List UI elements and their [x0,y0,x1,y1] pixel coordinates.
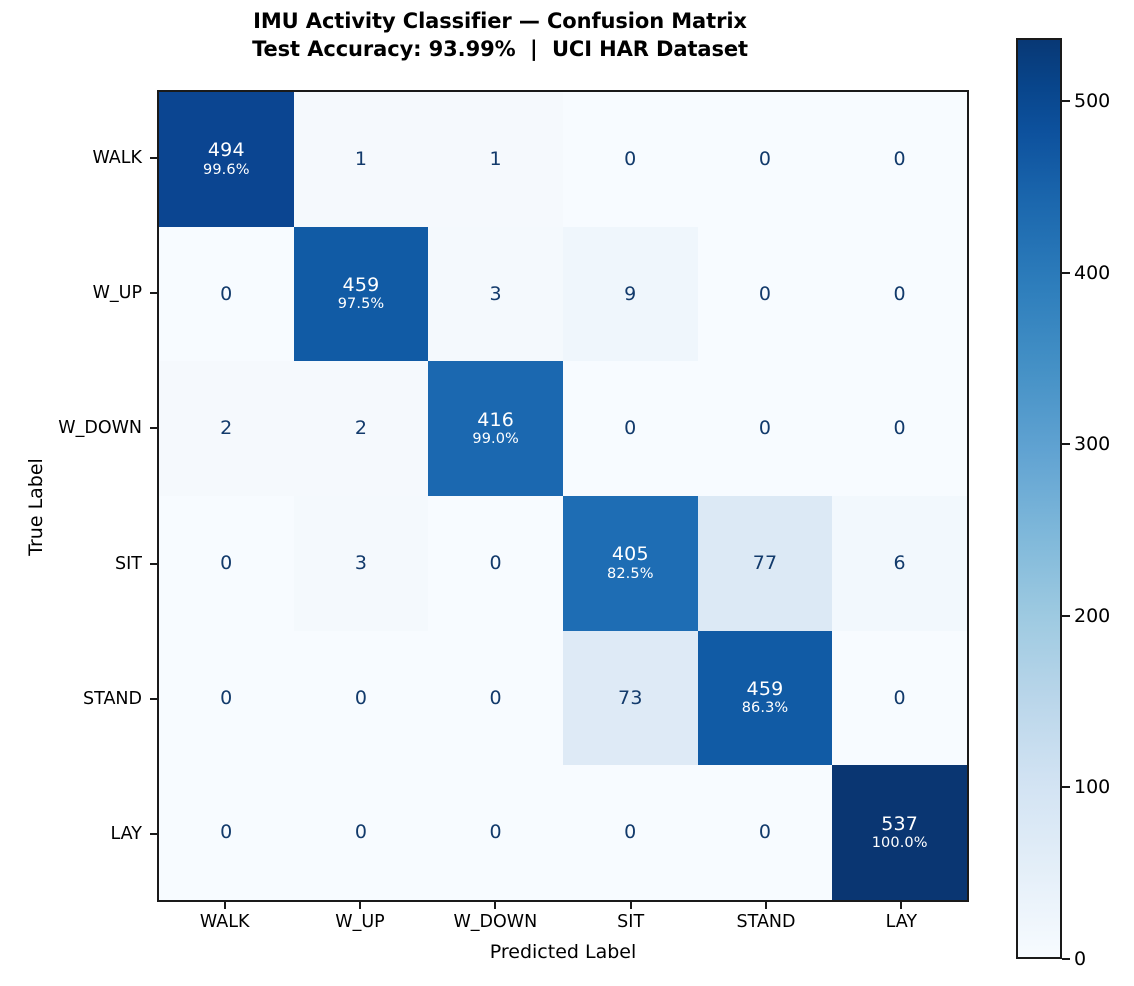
cell-count: 0 [220,822,232,843]
matrix-cell: 0 [563,765,698,900]
cell-count: 1 [355,149,367,170]
cell-count: 0 [220,553,232,574]
colorbar-tick-label: 100 [1074,776,1110,798]
colorbar-tick-mark [1062,615,1070,617]
cell-count: 459 [343,275,380,296]
matrix-cell: 0 [428,496,563,631]
matrix-cell: 3 [428,227,563,362]
cell-count: 3 [490,284,502,305]
y-tick-label: STAND [0,689,142,709]
matrix-cell: 73 [563,631,698,766]
colorbar [1016,38,1062,959]
matrix-cell: 2 [159,361,294,496]
y-tick-mark [150,563,157,565]
matrix-cell: 0 [294,631,429,766]
x-tick-mark [630,902,632,909]
x-tick-mark [900,902,902,909]
matrix-cell: 0 [159,227,294,362]
matrix-cell: 0 [832,361,967,496]
matrix-cell: 1 [428,92,563,227]
matrix-cell: 0 [832,92,967,227]
matrix-cell: 0 [698,765,833,900]
cell-count: 459 [747,679,784,700]
matrix-cell: 0 [698,92,833,227]
cell-count: 2 [220,418,232,439]
x-tick-mark [359,902,361,909]
colorbar-tick-mark [1062,100,1070,102]
matrix-cell: 41699.0% [428,361,563,496]
matrix-cell: 0 [698,227,833,362]
colorbar-tick-mark [1062,958,1070,960]
cell-count: 9 [624,284,636,305]
x-tick-mark [224,902,226,909]
matrix-cell: 9 [563,227,698,362]
y-tick-mark [150,833,157,835]
cell-count: 0 [894,149,906,170]
colorbar-tick-label: 0 [1074,948,1086,970]
matrix-cell: 0 [294,765,429,900]
matrix-cell: 45997.5% [294,227,429,362]
chart-title-line-1: IMU Activity Classifier — Confusion Matr… [0,8,1000,36]
matrix-cell: 2 [294,361,429,496]
cell-count: 0 [220,284,232,305]
colorbar-tick-label: 400 [1074,262,1110,284]
colorbar-tick-label: 500 [1074,90,1110,112]
cell-percent: 86.3% [742,701,789,717]
cell-count: 0 [355,822,367,843]
matrix-cell: 0 [159,631,294,766]
confusion-matrix-plot: 49499.6%11000045997.5%39002241699.0%0000… [157,90,969,902]
colorbar-tick-mark [1062,272,1070,274]
y-tick-mark [150,427,157,429]
x-axis-label: Predicted Label [157,941,969,963]
cell-count: 0 [490,553,502,574]
cell-count: 2 [355,418,367,439]
cell-count: 494 [208,140,245,161]
cell-count: 0 [624,822,636,843]
y-tick-label: W_DOWN [0,418,142,438]
matrix-cell: 49499.6% [159,92,294,227]
matrix-cell: 537100.0% [832,765,967,900]
cell-count: 537 [881,814,918,835]
x-tick-label: STAND [737,912,796,932]
x-tick-label: WALK [200,912,250,932]
colorbar-tick-label: 300 [1074,433,1110,455]
y-tick-label: LAY [0,824,142,844]
cell-count: 3 [355,553,367,574]
cell-count: 77 [753,553,778,574]
cell-percent: 100.0% [872,836,928,852]
matrix-cell: 0 [698,361,833,496]
cell-count: 0 [624,418,636,439]
cell-count: 73 [618,688,643,709]
cell-count: 6 [894,553,906,574]
matrix-cell: 6 [832,496,967,631]
cell-count: 0 [894,284,906,305]
cell-count: 1 [490,149,502,170]
matrix-cell: 0 [159,765,294,900]
matrix-cell: 0 [832,631,967,766]
x-tick-mark [765,902,767,909]
cell-count: 0 [490,688,502,709]
x-tick-label: SIT [617,912,644,932]
matrix-cell: 0 [832,227,967,362]
y-tick-label: SIT [0,554,142,574]
y-axis-label: True Label [25,407,47,607]
colorbar-gradient [1016,38,1062,959]
matrix-cell: 0 [159,496,294,631]
x-tick-label: W_UP [335,912,384,932]
matrix-cell: 0 [428,765,563,900]
cell-percent: 99.0% [472,432,519,448]
colorbar-tick-mark [1062,786,1070,788]
cell-count: 0 [894,418,906,439]
cell-count: 0 [355,688,367,709]
cell-percent: 97.5% [338,297,385,313]
y-tick-mark [150,292,157,294]
cell-count: 0 [220,688,232,709]
colorbar-tick-mark [1062,443,1070,445]
cell-count: 0 [624,149,636,170]
x-tick-label: W_DOWN [453,912,537,932]
y-tick-mark [150,698,157,700]
cell-percent: 99.6% [203,163,250,179]
matrix-cell: 77 [698,496,833,631]
y-tick-label: W_UP [0,283,142,303]
matrix-cell: 1 [294,92,429,227]
cell-count: 416 [477,410,514,431]
cell-count: 405 [612,544,649,565]
confusion-matrix-grid: 49499.6%11000045997.5%39002241699.0%0000… [159,92,967,900]
cell-count: 0 [490,822,502,843]
cell-count: 0 [759,284,771,305]
y-tick-mark [150,157,157,159]
matrix-cell: 0 [563,92,698,227]
matrix-cell: 0 [428,631,563,766]
colorbar-tick-label: 200 [1074,605,1110,627]
cell-percent: 82.5% [607,567,654,583]
matrix-cell: 0 [563,361,698,496]
matrix-cell: 3 [294,496,429,631]
matrix-cell: 45986.3% [698,631,833,766]
x-tick-label: LAY [886,912,917,932]
cell-count: 0 [894,688,906,709]
chart-title-line-2: Test Accuracy: 93.99% | UCI HAR Dataset [0,36,1000,64]
matrix-cell: 40582.5% [563,496,698,631]
cell-count: 0 [759,822,771,843]
chart-title: IMU Activity Classifier — Confusion Matr… [0,8,1000,63]
x-tick-mark [494,902,496,909]
cell-count: 0 [759,149,771,170]
y-tick-label: WALK [0,148,142,168]
cell-count: 0 [759,418,771,439]
